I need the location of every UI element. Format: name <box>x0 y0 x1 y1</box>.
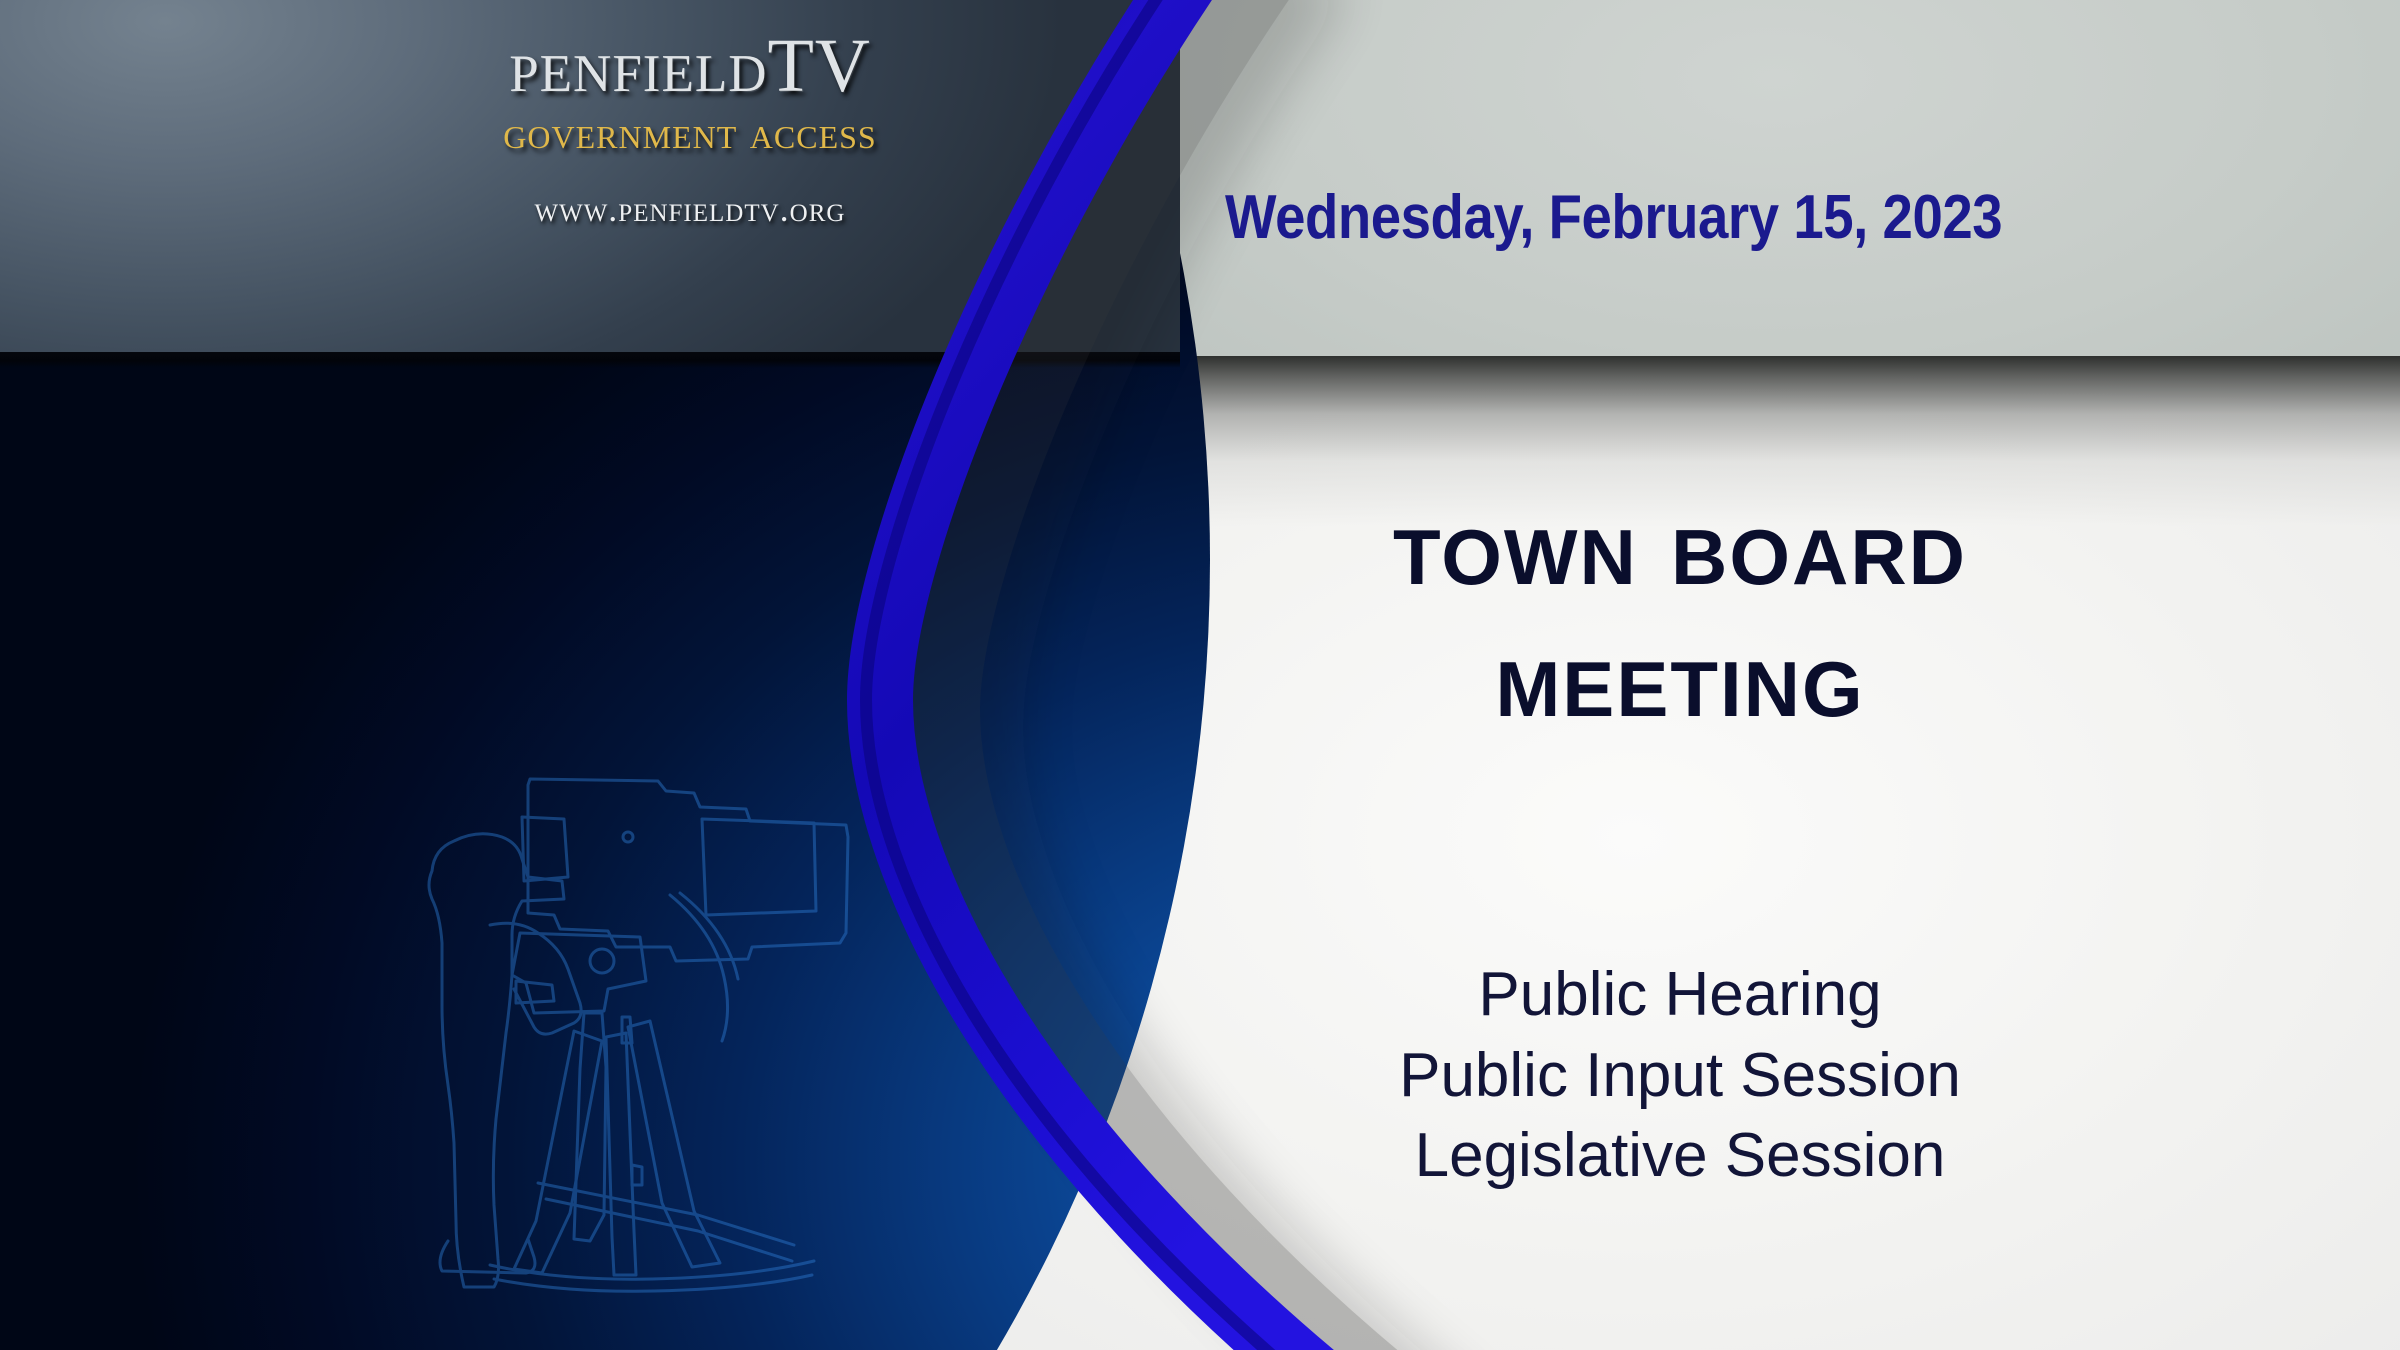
logo-title-main: Penfield <box>509 24 767 108</box>
logo-title-tv: TV <box>767 24 870 108</box>
meeting-date: Wednesday, February 15, 2023 <box>1225 182 2002 253</box>
logo-website-url: www.PenfieldTV.org <box>390 188 990 230</box>
camera-operator-icon <box>370 745 870 1305</box>
logo-subtitle: Government Access <box>390 110 990 156</box>
page-title-line-1: Town Board <box>1080 480 2280 612</box>
page-title-line-2: Meeting <box>1080 612 2280 744</box>
penfieldtv-logo: PenfieldTV Government Access www.Penfiel… <box>390 30 990 230</box>
agenda-item: Legislative Session <box>1080 1116 2280 1197</box>
logo-title: PenfieldTV <box>390 30 990 102</box>
page-title: Town Board Meeting <box>1080 480 2280 744</box>
agenda-item: Public Hearing <box>1080 955 2280 1036</box>
agenda-item: Public Input Session <box>1080 1036 2280 1117</box>
broadcast-title-slide: PenfieldTV Government Access www.Penfiel… <box>0 0 2400 1350</box>
agenda-list: Public Hearing Public Input Session Legi… <box>1080 955 2280 1197</box>
logo-panel-bottom-edge <box>0 352 1180 368</box>
